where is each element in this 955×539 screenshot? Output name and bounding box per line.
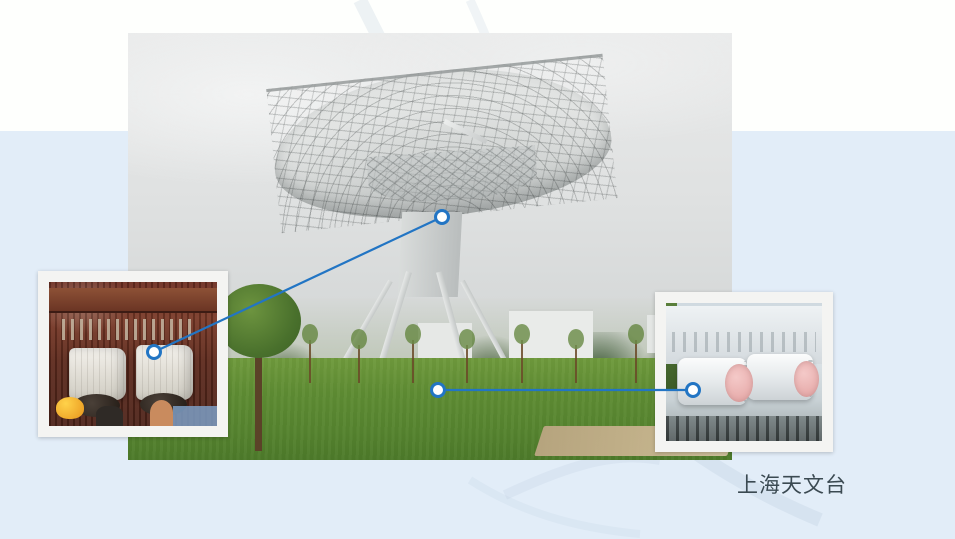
steel-base-rail bbox=[666, 416, 822, 441]
safety-helmet bbox=[56, 397, 85, 419]
inset-right-image bbox=[666, 303, 822, 441]
bearing-housing bbox=[136, 345, 193, 400]
sapling bbox=[575, 345, 577, 383]
worker-clothing bbox=[173, 406, 217, 426]
sapling bbox=[521, 340, 523, 383]
telescope-dish-assembly bbox=[273, 71, 611, 216]
marker-left-inset[interactable] bbox=[146, 344, 162, 360]
foreground-tree bbox=[255, 336, 262, 451]
slide-canvas: 上海天文台 bbox=[0, 0, 955, 539]
worker-silhouette bbox=[150, 400, 174, 426]
marker-telescope-upper[interactable] bbox=[434, 209, 450, 225]
inset-left-image bbox=[49, 282, 217, 426]
bearing-housing bbox=[69, 348, 126, 400]
sapling bbox=[635, 340, 637, 383]
sapling bbox=[412, 340, 414, 383]
caption-label: 上海天文台 bbox=[737, 469, 847, 499]
sapling bbox=[466, 345, 468, 383]
steel-beam bbox=[49, 288, 217, 313]
bolt-row bbox=[62, 319, 193, 339]
worker-silhouette bbox=[96, 406, 123, 426]
inset-photo-right[interactable] bbox=[655, 292, 833, 452]
marker-telescope-lower[interactable] bbox=[430, 382, 446, 398]
marker-right-inset[interactable] bbox=[685, 382, 701, 398]
sapling bbox=[358, 345, 360, 383]
pink-end-cap bbox=[794, 361, 819, 397]
inset-photo-left[interactable] bbox=[38, 271, 228, 437]
sapling bbox=[309, 340, 311, 383]
